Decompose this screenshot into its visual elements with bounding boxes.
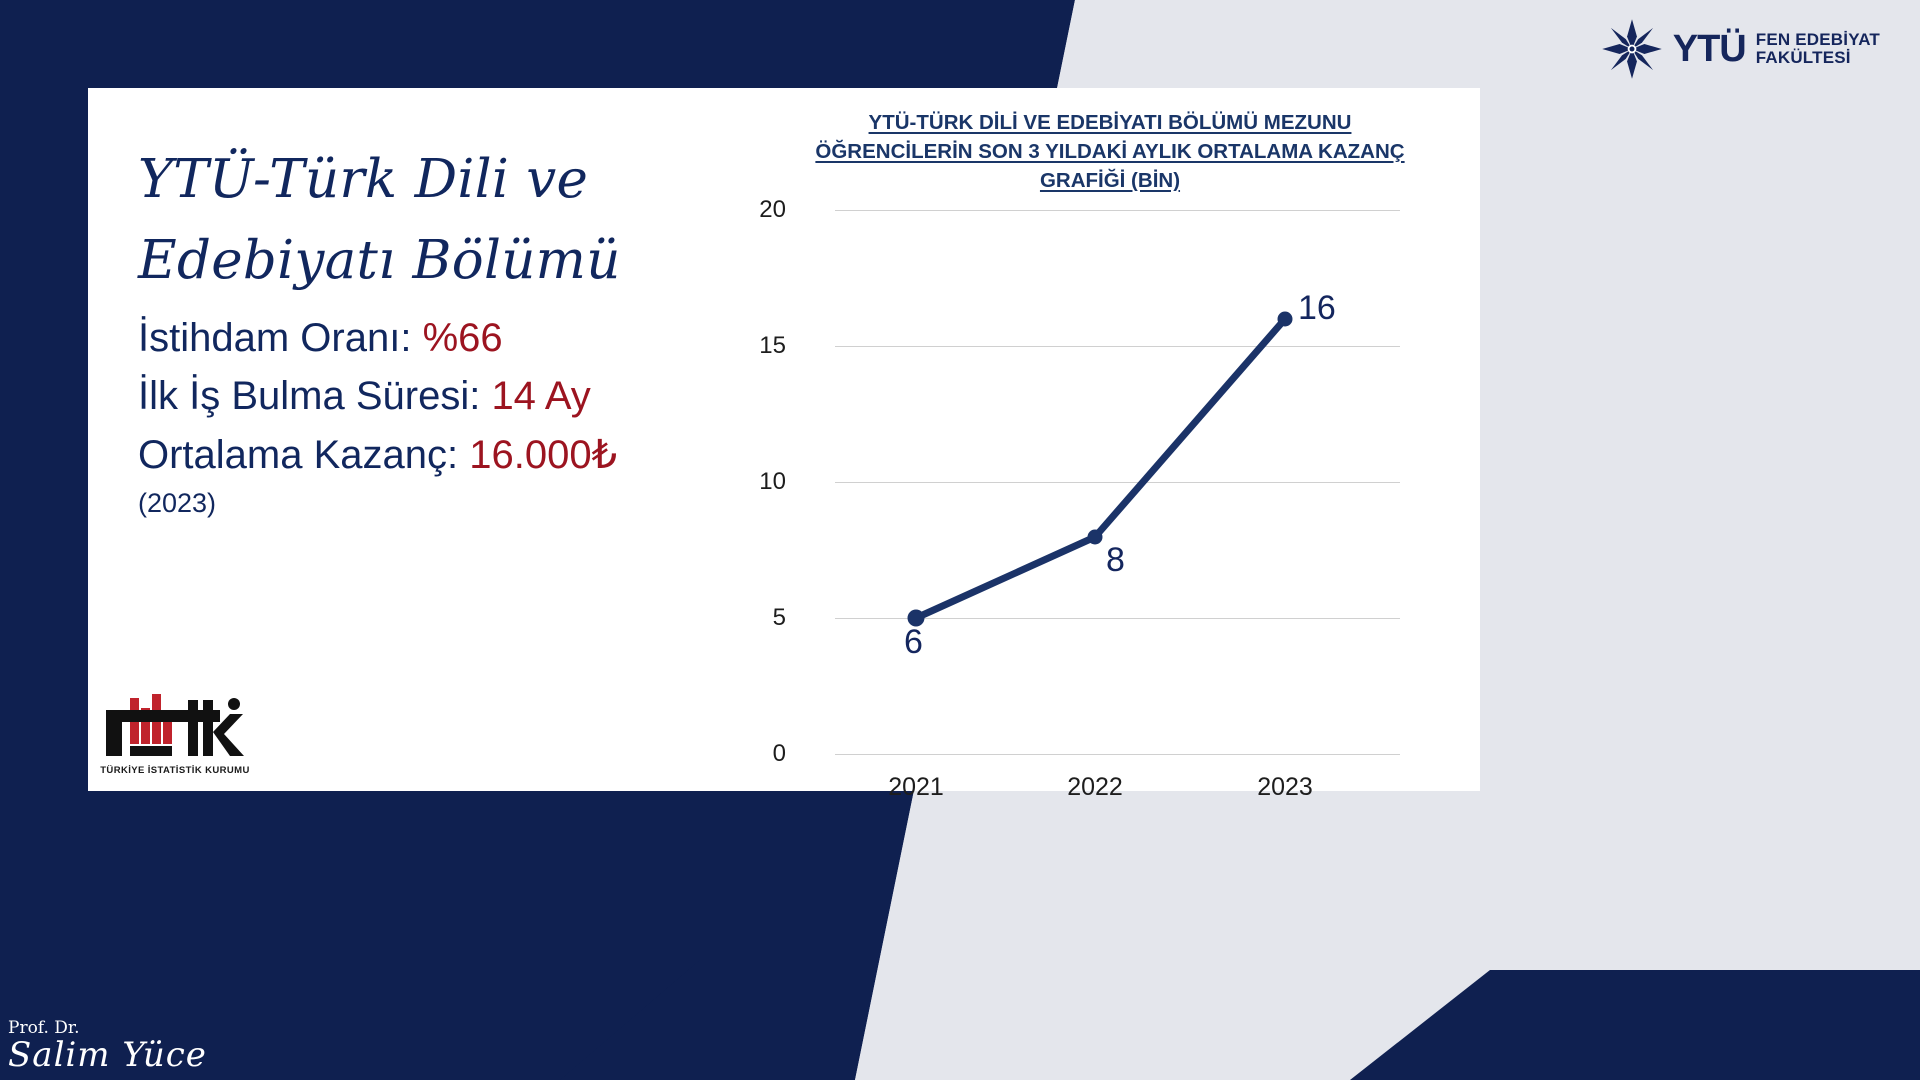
presenter-signature: Prof. Dr. Salim Yüce [8, 1019, 207, 1074]
ytu-logo: YTÜ FEN EDEBİYAT FAKÜLTESİ [1601, 18, 1880, 80]
tuik-caption: TÜRKİYE İSTATİSTİK KURUMU [100, 765, 250, 776]
stat-row-employment-rate: İstihdam Oranı: %66 [138, 309, 778, 367]
data-point-2022 [1088, 530, 1103, 545]
ytu-faculty-line-1: FEN EDEBİYAT [1756, 31, 1880, 49]
stat-row-time-to-first-job: İlk İş Bulma Süresi: 14 Ay [138, 367, 778, 425]
ytu-faculty-line-2: FAKÜLTESİ [1756, 49, 1880, 67]
chart-title-line-3: GRAFİĞİ (BİN) [1040, 169, 1180, 192]
earnings-line-chart: YTÜ-TÜRK DİLİ VE EDEBİYATI BÖLÜMÜ MEZUNU… [740, 108, 1480, 788]
data-label-2021: 6 [904, 623, 923, 662]
x-tick-2023: 2023 [1257, 773, 1313, 802]
stat-label: Ortalama Kazanç: [138, 433, 469, 477]
tuik-logo: TÜRKİYE İSTATİSTİK KURUMU [100, 692, 250, 776]
ytu-star-icon [1601, 18, 1663, 80]
stat-value: %66 [423, 316, 503, 360]
data-label-2022: 8 [1106, 541, 1125, 580]
ytu-faculty-name: FEN EDEBİYAT FAKÜLTESİ [1756, 31, 1880, 67]
chart-title: YTÜ-TÜRK DİLİ VE EDEBİYATI BÖLÜMÜ MEZUNU… [740, 108, 1480, 195]
series-line-average-earnings [916, 319, 1285, 618]
department-heading: YTÜ-Türk Dili ve Edebiyatı Bölümü [138, 140, 778, 301]
chart-title-line-2: ÖĞRENCİLERİN SON 3 YILDAKİ AYLIK ORTALAM… [815, 140, 1404, 163]
stat-label: İlk İş Bulma Süresi: [138, 374, 491, 418]
tuik-wordmark-icon [100, 692, 250, 758]
left-info-column: YTÜ-Türk Dili ve Edebiyatı Bölümü İstihd… [138, 140, 778, 519]
data-label-2023: 16 [1298, 289, 1336, 328]
stat-row-average-earnings: Ortalama Kazanç: 16.000₺ [138, 426, 778, 484]
chart-title-line-1: YTÜ-TÜRK DİLİ VE EDEBİYATI BÖLÜMÜ MEZUNU [869, 111, 1352, 134]
reference-year-note: (2023) [138, 488, 778, 519]
signature-name: Salim Yüce [8, 1038, 207, 1074]
stat-value: 16.000₺ [469, 433, 617, 477]
data-point-2023 [1278, 312, 1293, 327]
x-tick-2022: 2022 [1067, 773, 1123, 802]
chart-series-svg [740, 203, 1480, 783]
stat-label: İstihdam Oranı: [138, 316, 423, 360]
slide-canvas: YTÜ FEN EDEBİYAT FAKÜLTESİ YTÜ-Türk Dili… [0, 0, 1920, 1080]
chart-plot-area: 20 15 10 5 0 6 8 16 2021 2022 2023 [740, 203, 1480, 783]
ytu-wordmark: YTÜ [1673, 30, 1746, 68]
x-tick-2021: 2021 [888, 773, 944, 802]
stat-value: 14 Ay [491, 374, 590, 418]
